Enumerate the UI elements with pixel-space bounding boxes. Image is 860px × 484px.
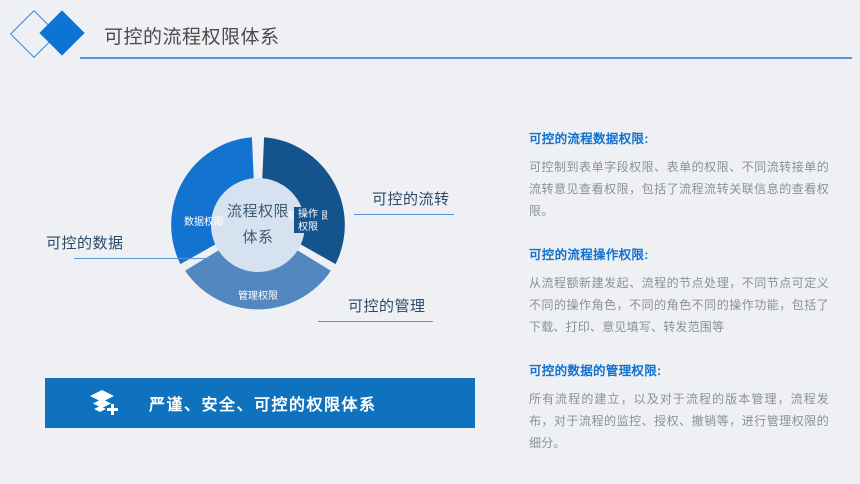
info-block-data: 可控的流程数据权限: 可控制到表单字段权限、表单的权限、不同流转接单的流转意见查… (529, 128, 829, 222)
permission-donut-chart: 操作权限 管理权限 数据权限 流程权限 体系 (166, 133, 350, 317)
donut-svg: 操作权限 管理权限 数据权限 (166, 133, 350, 317)
info-head-operation: 可控的流程操作权限: (529, 244, 829, 263)
donut-center-circle (211, 178, 305, 272)
callout-data-label: 可控的数据 (46, 232, 209, 258)
callout-manage-rule (318, 321, 433, 322)
info-body-operation: 从流程额新建发起、流程的节点处理，不同节点可定义不同的操作角色，不同的角色不同的… (529, 272, 829, 338)
callout-data: 可控的数据 (46, 232, 209, 259)
info-body-data: 可控制到表单字段权限、表单的权限、不同流转接单的流转意见查看权限，包括了流程流转… (529, 156, 829, 222)
callout-manage: 可控的管理 (348, 295, 433, 322)
donut-label-management: 管理权限 (238, 289, 278, 302)
info-head-data: 可控的流程数据权限: (529, 128, 829, 147)
callout-manage-label: 可控的管理 (348, 295, 433, 321)
header-divider (80, 57, 852, 59)
callout-flow: 可控的流转 (372, 188, 454, 215)
layers-plus-icon (87, 386, 121, 420)
summary-banner[interactable]: 严谨、安全、可控的权限体系 (45, 378, 475, 428)
callout-flow-label: 可控的流转 (372, 188, 454, 214)
callout-data-rule (74, 258, 209, 259)
info-head-management: 可控的数据的管理权限: (529, 360, 829, 379)
info-column: 可控的流程数据权限: 可控制到表单字段权限、表单的权限、不同流转接单的流转意见查… (529, 128, 829, 454)
diamond-filled-icon (39, 10, 84, 55)
info-block-management: 可控的数据的管理权限: 所有流程的建立，以及对于流程的版本管理，流程发布，对于流… (529, 360, 829, 454)
donut-label-operation: 操作权限 (288, 209, 328, 222)
donut-label-data: 数据权限 (184, 215, 224, 228)
callout-flow-rule (354, 214, 454, 215)
page-header: 可控的流程权限体系 (0, 0, 860, 78)
summary-banner-label: 严谨、安全、可控的权限体系 (149, 391, 377, 415)
page-title: 可控的流程权限体系 (104, 22, 280, 49)
info-block-operation: 可控的流程操作权限: 从流程额新建发起、流程的节点处理，不同节点可定义不同的操作… (529, 244, 829, 338)
info-body-management: 所有流程的建立，以及对于流程的版本管理，流程发布，对于流程的监控、授权、撤销等，… (529, 388, 829, 454)
